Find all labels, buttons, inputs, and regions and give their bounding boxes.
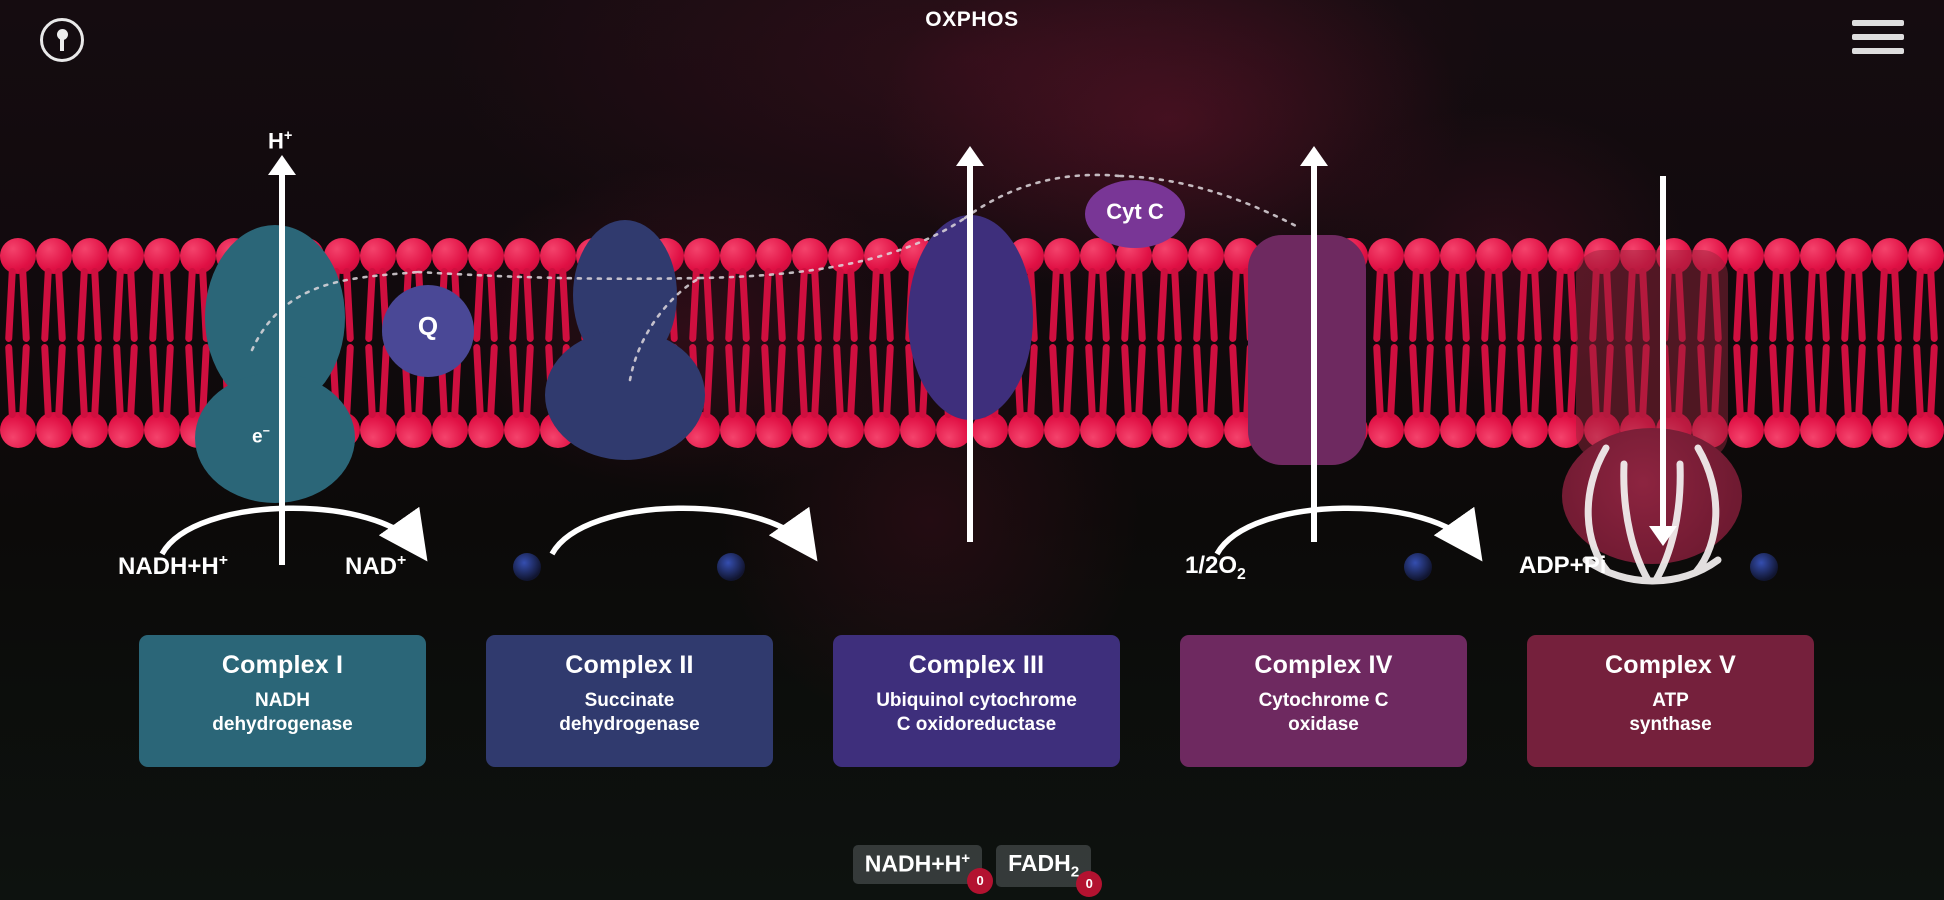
phospholipid	[1115, 238, 1153, 343]
lipid-tail	[1445, 268, 1456, 342]
lipid-tail	[487, 268, 498, 342]
electron-label: e−	[252, 424, 270, 448]
phospholipid	[1511, 238, 1549, 343]
complex-1-matrix-domain	[195, 373, 355, 503]
legend-subtitle-line1: Succinate	[585, 690, 675, 711]
lipid-tail	[1373, 268, 1384, 342]
phospholipid	[827, 343, 865, 448]
lipid-head	[1764, 238, 1800, 274]
lipid-tail	[1877, 344, 1888, 418]
lipid-tail	[739, 268, 750, 342]
substrate-sub: 2	[1237, 566, 1246, 583]
lipid-tail	[19, 268, 30, 342]
phospholipid	[791, 343, 829, 448]
lipid-tail	[739, 344, 750, 418]
menu-bar-1	[1852, 20, 1904, 26]
lipid-tail	[1819, 344, 1830, 418]
lipid-tail	[41, 344, 52, 418]
substrate-sup: +	[397, 552, 406, 569]
lipid-tail	[1157, 268, 1168, 342]
lipid-tail	[1531, 268, 1542, 342]
substrate-label-nad-out: NAD+	[345, 552, 406, 581]
lipid-tail	[761, 344, 772, 418]
lipid-tail	[1423, 268, 1434, 342]
lipid-tail	[113, 344, 124, 418]
carrier-token-nadh[interactable]: NADH+H+ 0	[853, 845, 982, 884]
lipid-tail	[1841, 344, 1852, 418]
lipid-tail	[883, 268, 894, 342]
carrier-token-count: 0	[967, 868, 993, 894]
lipid-tail	[1855, 344, 1866, 418]
lipid-head	[432, 412, 468, 448]
substrate-label-adp-pi: ADP+Pi	[1519, 552, 1606, 580]
phospholipid	[539, 238, 577, 343]
lipid-tail	[487, 344, 498, 418]
complex-2-matrix-domain	[545, 330, 705, 460]
lipid-tail	[1517, 268, 1528, 342]
substrate-text: ADP+Pi	[1519, 552, 1606, 579]
lipid-head	[504, 412, 540, 448]
phospholipid	[1763, 238, 1801, 343]
phospholipid	[1043, 343, 1081, 448]
legend-title: Complex II	[486, 651, 773, 680]
dot-marker-a	[513, 553, 541, 581]
lipid-tail	[1387, 268, 1398, 342]
phospholipid	[1835, 343, 1873, 448]
lipid-head	[864, 238, 900, 274]
lipid-tail	[127, 268, 138, 342]
complex-legend: Complex I NADH dehydrogenase Complex II …	[0, 635, 1944, 775]
lipid-tail	[1409, 344, 1420, 418]
phospholipid	[863, 238, 901, 343]
lipid-tail	[55, 344, 66, 418]
lipid-tail	[1121, 344, 1132, 418]
complex-2-substrate-arrow	[540, 486, 830, 566]
lipid-tail	[1099, 268, 1110, 342]
lipid-tail	[1207, 344, 1218, 418]
lipid-tail	[883, 344, 894, 418]
phospholipid	[683, 238, 721, 343]
menu-bar-3	[1852, 48, 1904, 54]
phospholipid	[1475, 343, 1513, 448]
lipid-tail	[1157, 344, 1168, 418]
lipid-head	[1476, 412, 1512, 448]
carrier-token-bar: NADH+H+ 0 FADH2 0	[0, 845, 1944, 900]
proton-arrow-complex-3	[967, 166, 973, 542]
lipid-tail	[149, 344, 160, 418]
lipid-tail	[1481, 268, 1492, 342]
phospholipid	[1439, 343, 1477, 448]
lipid-head	[432, 238, 468, 274]
lipid-tail	[365, 268, 376, 342]
lipid-tail	[1459, 344, 1470, 418]
phospholipid	[71, 238, 109, 343]
lipid-tail	[113, 268, 124, 342]
lipid-tail	[1459, 268, 1470, 342]
lipid-tail	[1085, 268, 1096, 342]
lipid-head	[828, 238, 864, 274]
substrate-text: 1/2O	[1185, 552, 1237, 579]
lipid-head	[1404, 412, 1440, 448]
lipid-tail	[1517, 344, 1528, 418]
phospholipid	[1115, 343, 1153, 448]
lipid-head	[1188, 412, 1224, 448]
phospholipid	[35, 343, 73, 448]
lipid-head	[1188, 238, 1224, 274]
lipid-tail	[473, 344, 484, 418]
lipid-head	[1404, 238, 1440, 274]
lipid-tail	[869, 344, 880, 418]
lipid-tail	[869, 268, 880, 342]
ubiquinone-label: Q	[382, 311, 474, 342]
carrier-token-label: FADH	[1008, 850, 1071, 876]
lipid-head	[756, 412, 792, 448]
phospholipid	[827, 238, 865, 343]
lipid-tail	[1085, 344, 1096, 418]
lipid-head	[1512, 238, 1548, 274]
lipid-tail	[473, 268, 484, 342]
phospholipid	[1907, 343, 1944, 448]
lipid-head	[144, 412, 180, 448]
phospholipid	[719, 238, 757, 343]
legend-title: Complex V	[1527, 651, 1814, 680]
lipid-tail	[725, 344, 736, 418]
dot-marker-d	[1750, 553, 1778, 581]
lipid-tail	[1805, 344, 1816, 418]
substrate-label-nadh-in: NADH+H+	[118, 552, 228, 581]
phospholipid	[1079, 238, 1117, 343]
lipid-tail	[1891, 268, 1902, 342]
legend-subtitle-line2: C oxidoreductase	[897, 714, 1056, 735]
proton-label-complex-1: H+	[268, 128, 292, 154]
lipid-tail	[1747, 344, 1758, 418]
legend-title: Complex I	[139, 651, 426, 680]
lipid-tail	[1445, 344, 1456, 418]
legend-subtitle: Ubiquinol cytochrome C oxidoreductase	[833, 689, 1120, 738]
lipid-head	[1080, 412, 1116, 448]
phospholipid	[1835, 238, 1873, 343]
oxphos-diagram-stage: OXPHOS Q Cyt C	[0, 0, 1944, 900]
lipid-tail	[1171, 268, 1182, 342]
lipid-tail	[761, 268, 772, 342]
lipid-head	[1368, 238, 1404, 274]
lipid-tail	[1099, 344, 1110, 418]
lipid-head	[684, 238, 720, 274]
phospholipid	[1511, 343, 1549, 448]
lipid-head	[828, 412, 864, 448]
key-circle-icon	[57, 29, 68, 51]
hamburger-menu-icon[interactable]	[1852, 20, 1904, 60]
legend-subtitle: Succinate dehydrogenase	[486, 689, 773, 738]
lipid-tail	[149, 268, 160, 342]
lipid-tail	[1409, 268, 1420, 342]
complex-4-shape[interactable]	[1248, 235, 1366, 465]
legend-subtitle-line2: synthase	[1629, 714, 1711, 735]
phospholipid	[1367, 343, 1405, 448]
phospholipid	[1187, 343, 1225, 448]
lipid-tail	[5, 268, 16, 342]
lipid-tail	[1769, 268, 1780, 342]
lipid-head	[1512, 412, 1548, 448]
lipid-head	[396, 238, 432, 274]
lipid-head	[72, 238, 108, 274]
phospholipid	[1187, 238, 1225, 343]
legend-subtitle-line2: dehydrogenase	[212, 714, 352, 735]
phospholipid	[107, 238, 145, 343]
carrier-token-sup: +	[961, 850, 970, 867]
phospholipid	[755, 343, 793, 448]
lipid-head	[756, 238, 792, 274]
lipid-tail	[41, 268, 52, 342]
lipid-head	[1476, 238, 1512, 274]
legend-title: Complex III	[833, 651, 1120, 680]
top-bar: OXPHOS	[0, 0, 1944, 66]
lipid-head	[1872, 412, 1908, 448]
lipid-tail	[523, 344, 534, 418]
substrate-label-half-o2: 1/2O2	[1185, 552, 1246, 584]
menu-bar-2	[1852, 34, 1904, 40]
lipid-tail	[1769, 344, 1780, 418]
proton-arrow-complex-4	[1311, 166, 1317, 542]
lipid-head	[1836, 238, 1872, 274]
lipid-tail	[91, 268, 102, 342]
lipid-tail	[1063, 268, 1074, 342]
lipid-tail	[1193, 344, 1204, 418]
proton-arrow-complex-1	[279, 175, 285, 565]
lipid-head	[1044, 412, 1080, 448]
lipid-tail	[811, 344, 822, 418]
lipid-tail	[1819, 268, 1830, 342]
lipid-tail	[847, 344, 858, 418]
phospholipid	[0, 343, 37, 448]
lipid-tail	[509, 268, 520, 342]
lipid-tail	[1049, 344, 1060, 418]
complex-2-shape[interactable]	[545, 330, 705, 470]
lipid-tail	[775, 268, 786, 342]
legend-subtitle: NADH dehydrogenase	[139, 689, 426, 738]
phospholipid	[1439, 238, 1477, 343]
lipid-tail	[77, 344, 88, 418]
complex-4-substrate-arrow	[1205, 486, 1495, 566]
lipid-head	[0, 238, 36, 274]
phospholipid	[1151, 238, 1189, 343]
lipid-tail	[1783, 268, 1794, 342]
lipid-tail	[1913, 268, 1924, 342]
lipid-head	[360, 412, 396, 448]
lipid-head	[1836, 412, 1872, 448]
phospholipid	[503, 238, 541, 343]
phospholipid	[71, 343, 109, 448]
lipid-tail	[1927, 268, 1938, 342]
lipid-head	[36, 412, 72, 448]
lipid-head	[1872, 238, 1908, 274]
lipid-tail	[833, 344, 844, 418]
ubiquinone-carrier[interactable]: Q	[382, 285, 474, 377]
lipid-tail	[1877, 268, 1888, 342]
lipid-head	[792, 412, 828, 448]
lipid-tail	[797, 344, 808, 418]
carrier-token-fadh2[interactable]: FADH2 0	[996, 845, 1091, 887]
phospholipid	[1403, 238, 1441, 343]
phospholipid	[1871, 238, 1909, 343]
lipid-head	[1440, 238, 1476, 274]
substrate-text: NAD	[345, 553, 397, 580]
lipid-head	[540, 238, 576, 274]
lipid-tail	[1841, 268, 1852, 342]
lipid-tail	[1783, 344, 1794, 418]
phospholipid	[1871, 343, 1909, 448]
lipid-tail	[1747, 268, 1758, 342]
legend-subtitle-line2: dehydrogenase	[559, 714, 699, 735]
lipid-head	[720, 238, 756, 274]
lipid-head	[108, 412, 144, 448]
lipid-tail	[1135, 268, 1146, 342]
lipid-tail	[55, 268, 66, 342]
lipid-tail	[1855, 268, 1866, 342]
lipid-tail	[1207, 268, 1218, 342]
phospholipid	[1151, 343, 1189, 448]
legend-subtitle: ATP synthase	[1527, 689, 1814, 738]
legend-complex-1[interactable]: Complex I NADH dehydrogenase	[139, 635, 426, 767]
carrier-token-count: 0	[1076, 871, 1102, 897]
legend-subtitle-line1: NADH	[255, 690, 310, 711]
legend-subtitle-line1: Ubiquinol cytochrome	[876, 690, 1077, 711]
lipid-head	[1440, 412, 1476, 448]
phospholipid	[1475, 238, 1513, 343]
lipid-tail	[1495, 268, 1506, 342]
lipid-tail	[1135, 344, 1146, 418]
cytochrome-c-carrier[interactable]: Cyt C	[1085, 180, 1185, 248]
lipid-head	[360, 238, 396, 274]
lipid-tail	[725, 268, 736, 342]
carrier-token-label: NADH+H	[865, 851, 961, 877]
substrate-sup: +	[219, 552, 228, 569]
phospholipid	[1907, 238, 1944, 343]
lipid-head	[72, 412, 108, 448]
lipid-tail	[833, 268, 844, 342]
lipid-tail	[1373, 344, 1384, 418]
substrate-text: NADH+H	[118, 553, 219, 580]
lipid-tail	[1891, 344, 1902, 418]
phospholipid	[1799, 343, 1837, 448]
legend-title: Complex IV	[1180, 651, 1467, 680]
legend-complex-2[interactable]: Complex II Succinate dehydrogenase	[486, 635, 773, 767]
phospholipid	[719, 343, 757, 448]
lipid-tail	[1171, 344, 1182, 418]
lipid-head	[1800, 238, 1836, 274]
legend-complex-3[interactable]: Complex III Ubiquinol cytochrome C oxido…	[833, 635, 1120, 767]
lipid-tail	[1229, 344, 1240, 418]
lipid-head	[468, 238, 504, 274]
phospholipid	[35, 238, 73, 343]
phospholipid	[107, 343, 145, 448]
lipid-head	[792, 238, 828, 274]
lipid-head	[504, 238, 540, 274]
lipid-tail	[127, 344, 138, 418]
lipid-head	[720, 412, 756, 448]
lipid-tail	[163, 344, 174, 418]
lipid-head	[108, 238, 144, 274]
cytochrome-c-label: Cyt C	[1085, 199, 1185, 225]
phospholipid	[863, 343, 901, 448]
legend-subtitle-line2: oxidase	[1288, 714, 1359, 735]
lipid-head	[144, 238, 180, 274]
lipid-head	[1800, 412, 1836, 448]
lipid-tail	[811, 268, 822, 342]
phospholipid	[1799, 238, 1837, 343]
lipid-tail	[797, 268, 808, 342]
complex-4-body	[1248, 235, 1366, 465]
lipid-head	[1908, 412, 1944, 448]
lipid-head	[468, 412, 504, 448]
lipid-tail	[1423, 344, 1434, 418]
lipid-tail	[5, 344, 16, 418]
lipid-tail	[1049, 268, 1060, 342]
phospholipid	[1043, 238, 1081, 343]
lipid-tail	[509, 344, 520, 418]
lipid-tail	[1495, 344, 1506, 418]
lipid-head	[36, 238, 72, 274]
lipid-tail	[1387, 344, 1398, 418]
lipid-head	[1152, 412, 1188, 448]
lipid-tail	[1805, 268, 1816, 342]
lipid-tail	[1121, 268, 1132, 342]
lipid-tail	[1193, 268, 1204, 342]
phospholipid	[0, 238, 37, 343]
lipid-head	[396, 412, 432, 448]
phospholipid	[755, 238, 793, 343]
lipid-head	[1368, 412, 1404, 448]
legend-complex-4[interactable]: Complex IV Cytochrome C oxidase	[1180, 635, 1467, 767]
page-title: OXPHOS	[0, 8, 1944, 32]
phospholipid	[1763, 343, 1801, 448]
lipid-tail	[19, 344, 30, 418]
lipid-tail	[1481, 344, 1492, 418]
lipid-tail	[1913, 344, 1924, 418]
lipid-tail	[91, 344, 102, 418]
phospholipid	[1079, 343, 1117, 448]
lipid-tail	[365, 344, 376, 418]
legend-subtitle: Cytochrome C oxidase	[1180, 689, 1467, 738]
lipid-head	[0, 412, 36, 448]
phospholipid	[791, 238, 829, 343]
phospholipid	[1403, 343, 1441, 448]
lipid-tail	[163, 268, 174, 342]
legend-subtitle-line1: Cytochrome C	[1259, 690, 1389, 711]
legend-subtitle-line1: ATP	[1652, 690, 1689, 711]
phospholipid	[503, 343, 541, 448]
lipid-head	[1116, 412, 1152, 448]
phospholipid	[143, 343, 181, 448]
lipid-head	[864, 412, 900, 448]
lipid-tail	[1531, 344, 1542, 418]
lipid-tail	[1063, 344, 1074, 418]
lipid-head	[1044, 238, 1080, 274]
lipid-tail	[1927, 344, 1938, 418]
complex-1-shape[interactable]	[195, 225, 355, 500]
lipid-head	[1764, 412, 1800, 448]
lipid-head	[1908, 238, 1944, 274]
lipid-tail	[847, 268, 858, 342]
phospholipid	[1367, 238, 1405, 343]
phospholipid	[143, 238, 181, 343]
lipid-tail	[77, 268, 88, 342]
lipid-tail	[775, 344, 786, 418]
legend-complex-5[interactable]: Complex V ATP synthase	[1527, 635, 1814, 767]
lipid-tail	[523, 268, 534, 342]
proton-arrow-complex-5	[1660, 176, 1666, 526]
lipid-tail	[1229, 268, 1240, 342]
